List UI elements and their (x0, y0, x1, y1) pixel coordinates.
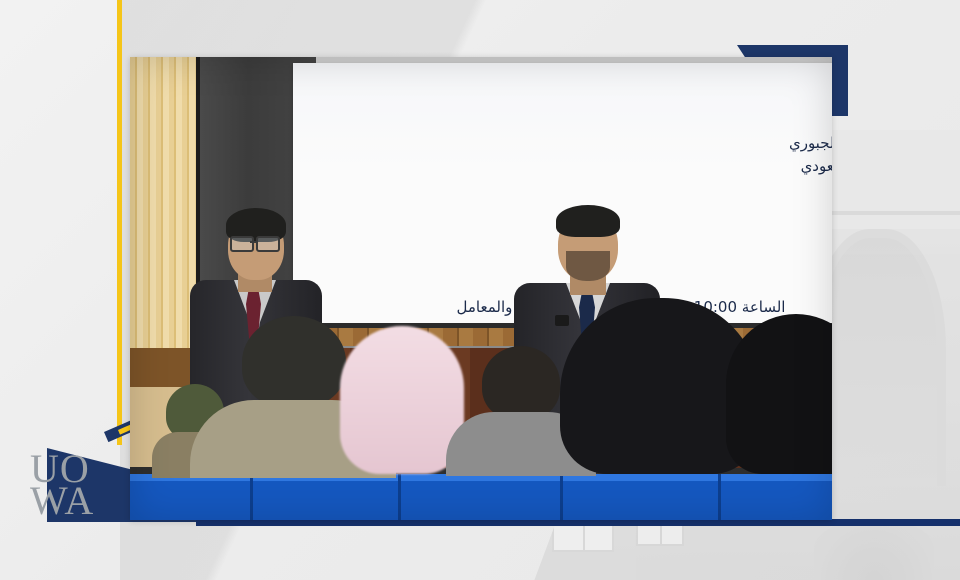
poster-canvas: UO WA يحاضر فيها : م. د. صباح محمد الجبو… (0, 0, 960, 580)
watermark-shrub (814, 518, 934, 580)
uowa-logo: UO WA (30, 452, 126, 519)
yellow-frame-left-segment (117, 57, 122, 445)
photo-vignette (130, 57, 832, 520)
event-photograph: يحاضر فيها : م. د. صباح محمد الجبوري أ. … (130, 57, 832, 520)
navy-baseline-rule (196, 519, 960, 526)
logo-line-2: WA (30, 484, 126, 518)
yellow-frame-top-segment (117, 0, 122, 57)
